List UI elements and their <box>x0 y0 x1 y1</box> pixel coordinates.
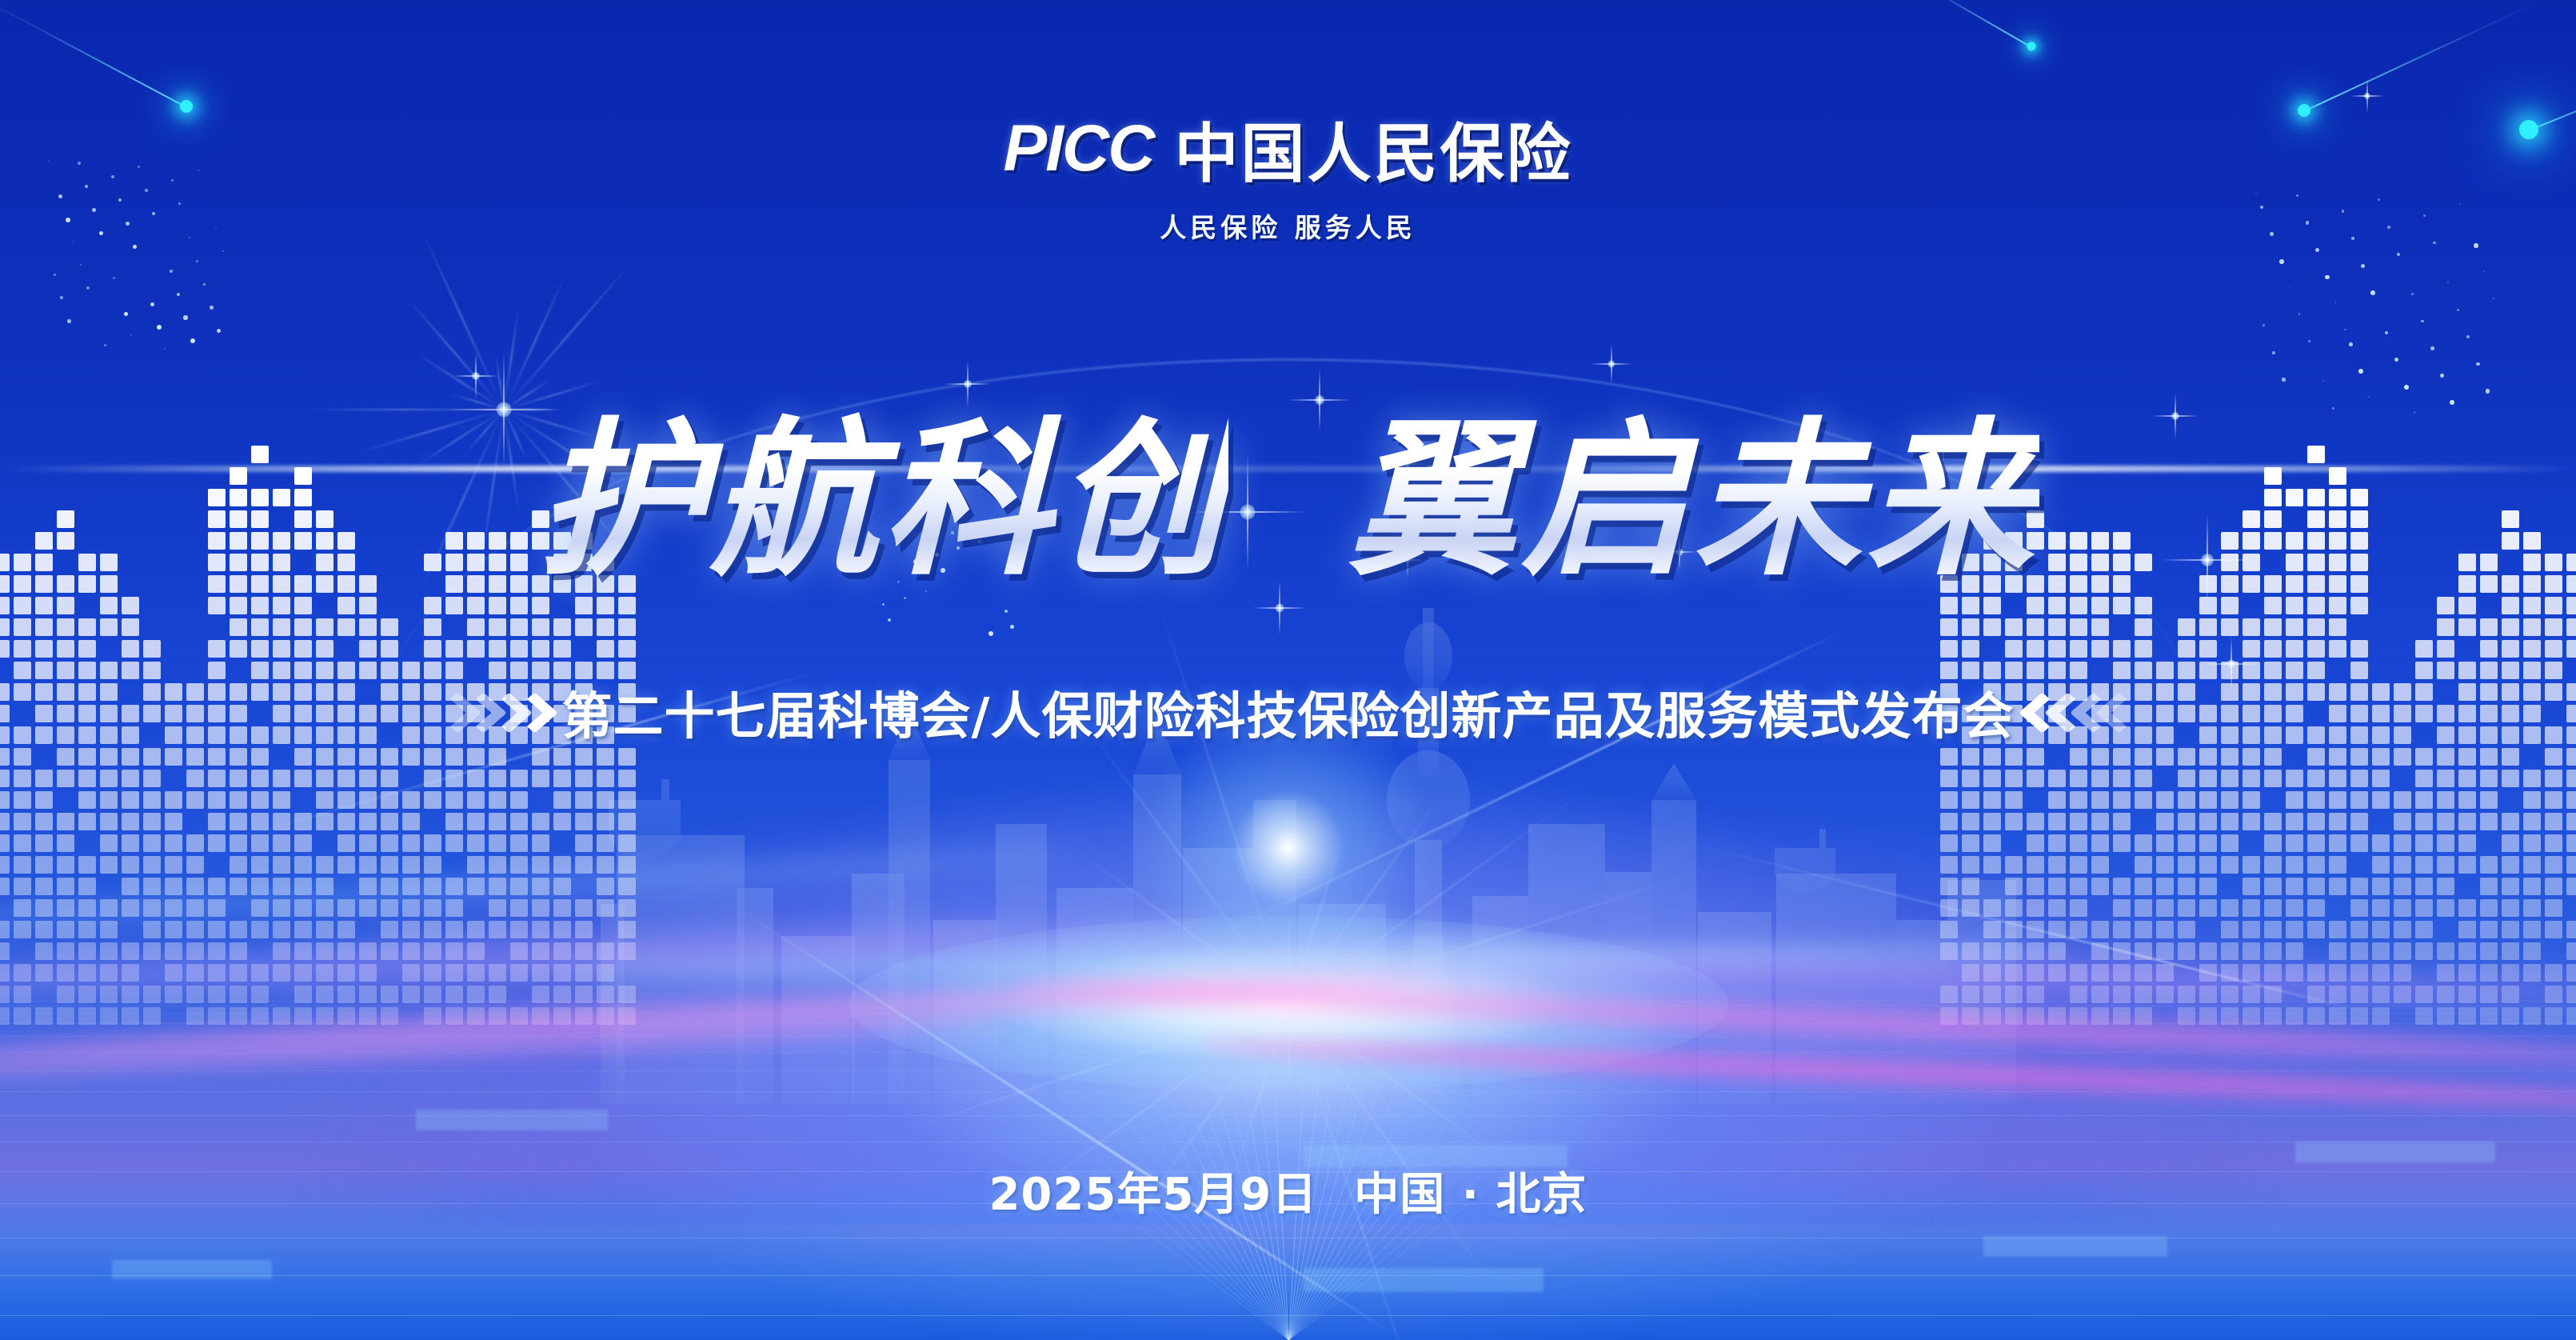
event-location: 中国 · 北京 <box>1354 1158 1587 1223</box>
event-dateline: 2025年5月9日 中国 · 北京 <box>988 1158 1587 1223</box>
chevrons-left-icon <box>2035 690 2136 736</box>
banner-stage: PICC 中国人民保险 人民保险 服务人民 护航科创翼启未来 第二十七届科博会/… <box>0 0 2576 1340</box>
picc-logo: PICC 中国人民保险 人民保险 服务人民 <box>769 102 1808 245</box>
event-date: 2025年5月9日 <box>988 1158 1317 1223</box>
logo-row: PICC 中国人民保险 <box>769 102 1808 195</box>
logo-tagline: 人民保险 服务人民 <box>769 206 1808 245</box>
subtitle-text: 第二十七届科博会/人保财险科技保险创新产品及服务模式发布会 <box>561 676 2014 749</box>
chevrons-right-icon <box>440 690 541 736</box>
subtitle: 第二十七届科博会/人保财险科技保险创新产品及服务模式发布会 <box>440 676 2135 749</box>
logo-latin-text: PICC <box>1004 111 1154 186</box>
title-part-2: 翼启未来 <box>1348 402 2039 598</box>
logo-chinese-text: 中国人民保险 <box>1174 102 1572 195</box>
page-title: 护航科创翼启未来 <box>209 364 2368 607</box>
title-part-1: 护航科创 <box>537 402 1228 598</box>
